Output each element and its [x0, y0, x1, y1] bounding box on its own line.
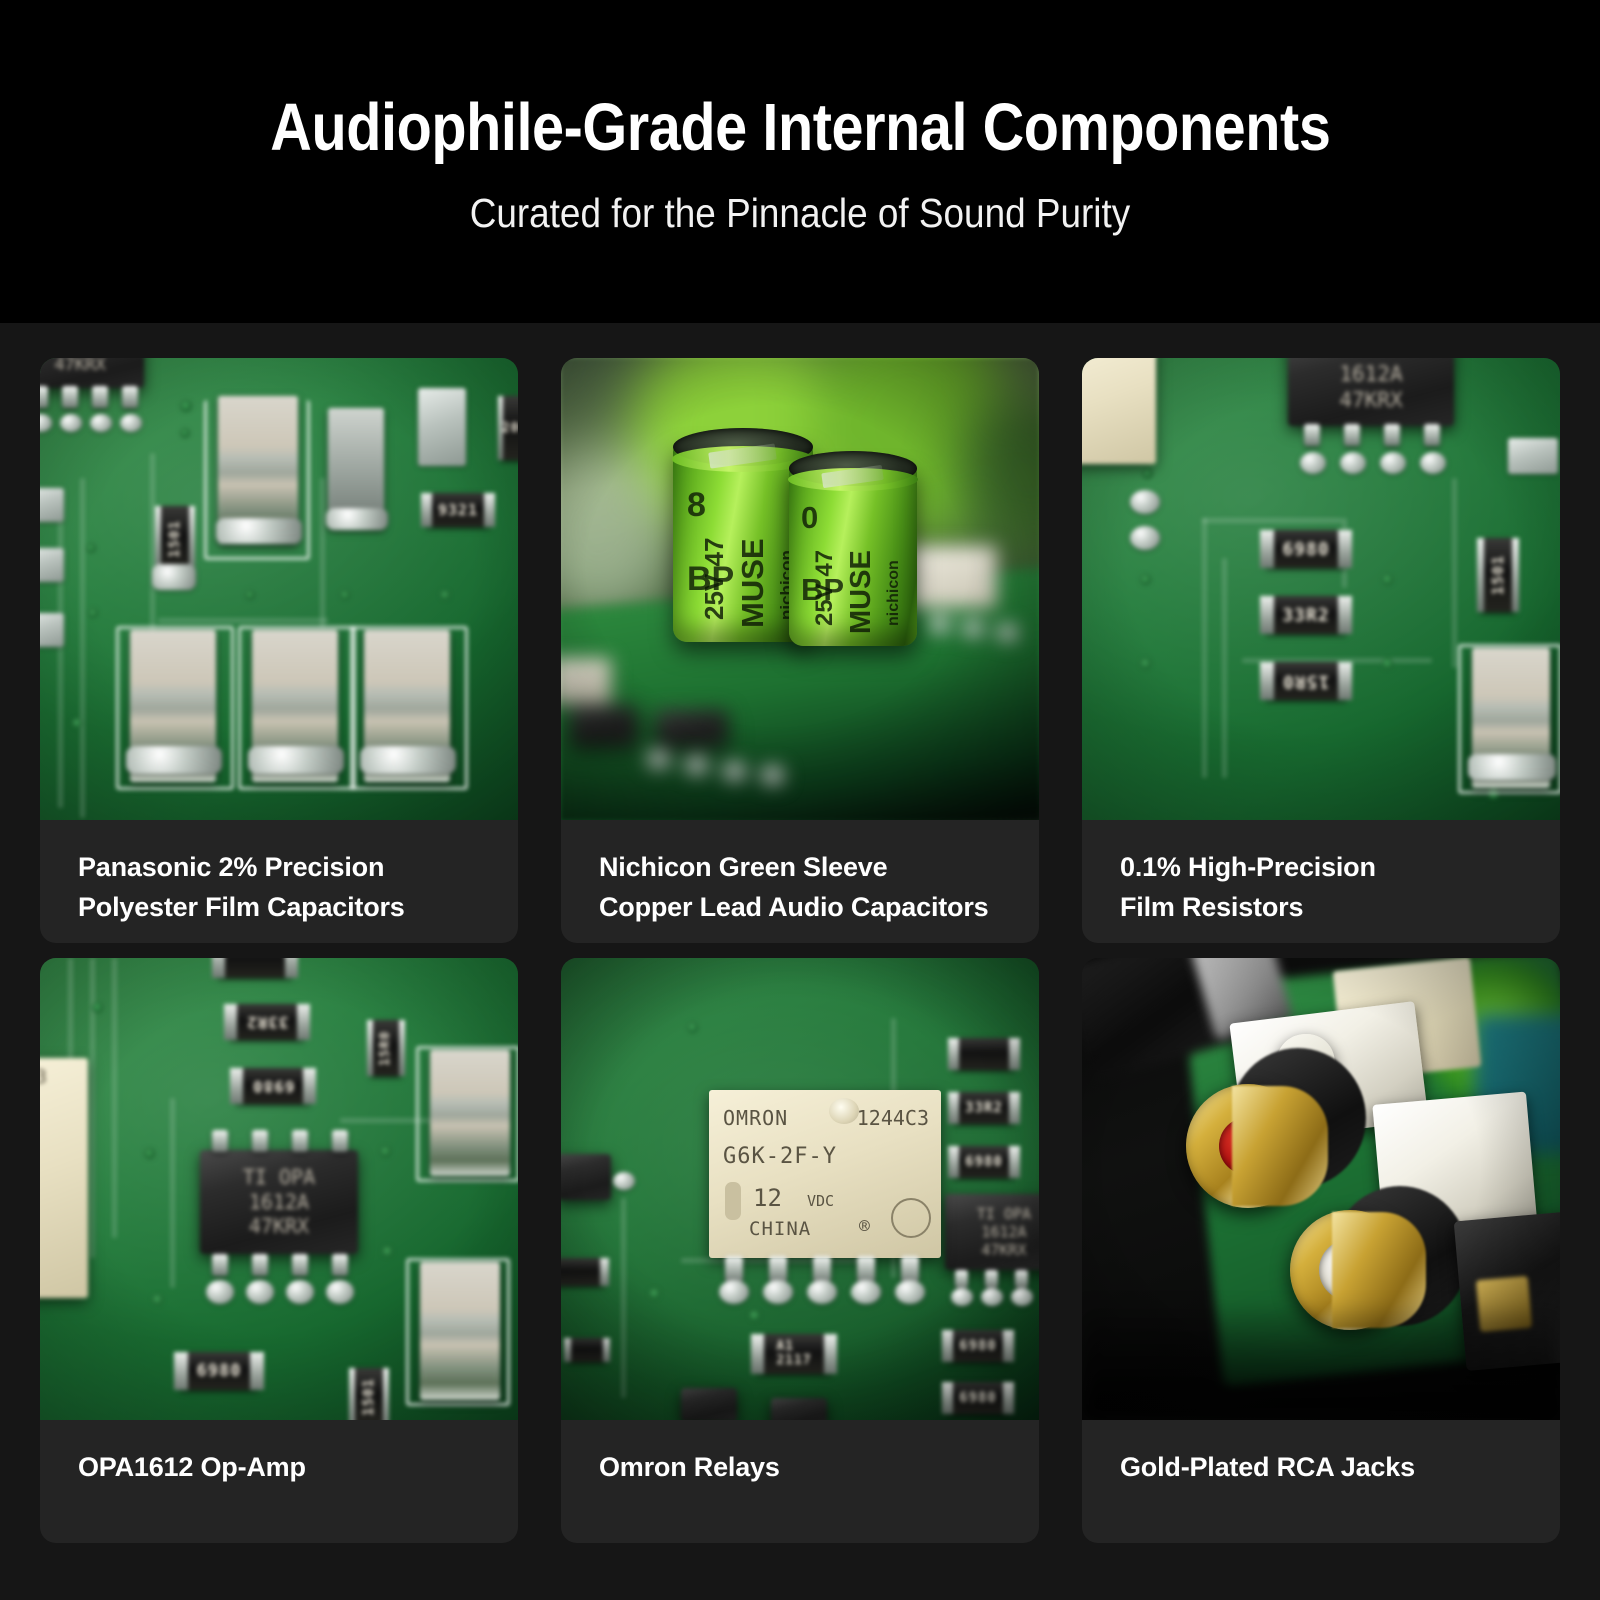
- card-caption: Omron Relays: [561, 1420, 1039, 1488]
- component-card-opa1612-op-amp[interactable]: C3 33R2 6980 15R0: [40, 958, 518, 1543]
- caption-line-1: Panasonic 2% Precision: [78, 848, 480, 888]
- infographic-page: Audiophile-Grade Internal Components Cur…: [0, 0, 1600, 1600]
- card-caption: Gold-Plated RCA Jacks: [1082, 1420, 1560, 1488]
- card-caption: Panasonic 2% Precision Polyester Film Ca…: [40, 820, 518, 928]
- page-subtitle: Curated for the Pinnacle of Sound Purity: [470, 190, 1131, 237]
- caption-line-2: Film Resistors: [1120, 888, 1522, 928]
- header-banner: Audiophile-Grade Internal Components Cur…: [0, 0, 1600, 323]
- component-card-high-precision-film-resistors[interactable]: 1612A47KRX 6980 33R2: [1082, 358, 1560, 943]
- photo-nichicon-capacitors: 25V 47 MUSE nichicon 8 BP 25V 47 MUSE ni…: [561, 358, 1039, 820]
- photo-omron-relays: 33R2 6980 TI OPA1612A47KRX 6980 6980: [561, 958, 1039, 1420]
- caption-line-1: Nichicon Green Sleeve: [599, 848, 1001, 888]
- caption-line-1: Gold-Plated RCA Jacks: [1120, 1448, 1522, 1488]
- component-card-gold-plated-rca-jacks[interactable]: Gold-Plated RCA Jacks: [1082, 958, 1560, 1543]
- photo-opa1612-op-amp: C3 33R2 6980 15R0: [40, 958, 518, 1420]
- photo-rca-jacks: [1082, 958, 1560, 1420]
- card-caption: Nichicon Green Sleeve Copper Lead Audio …: [561, 820, 1039, 928]
- component-card-omron-relays[interactable]: 33R2 6980 TI OPA1612A47KRX 6980 6980: [561, 958, 1039, 1543]
- page-title: Audiophile-Grade Internal Components: [270, 92, 1330, 163]
- caption-line-1: Omron Relays: [599, 1448, 1001, 1488]
- card-caption: OPA1612 Op-Amp: [40, 1420, 518, 1488]
- caption-line-2: Polyester Film Capacitors: [78, 888, 480, 928]
- caption-line-2: Copper Lead Audio Capacitors: [599, 888, 1001, 928]
- component-card-grid: 47KRX: [40, 358, 1560, 1543]
- photo-panasonic-film-capacitors: 47KRX: [40, 358, 518, 820]
- component-card-panasonic-film-capacitors[interactable]: 47KRX: [40, 358, 518, 943]
- caption-line-1: 0.1% High-Precision: [1120, 848, 1522, 888]
- component-card-nichicon-green-sleeve-capacitors[interactable]: 25V 47 MUSE nichicon 8 BP 25V 47 MUSE ni…: [561, 358, 1039, 943]
- caption-line-1: OPA1612 Op-Amp: [78, 1448, 480, 1488]
- card-caption: 0.1% High-Precision Film Resistors: [1082, 820, 1560, 928]
- photo-film-resistors: 1612A47KRX 6980 33R2: [1082, 358, 1560, 820]
